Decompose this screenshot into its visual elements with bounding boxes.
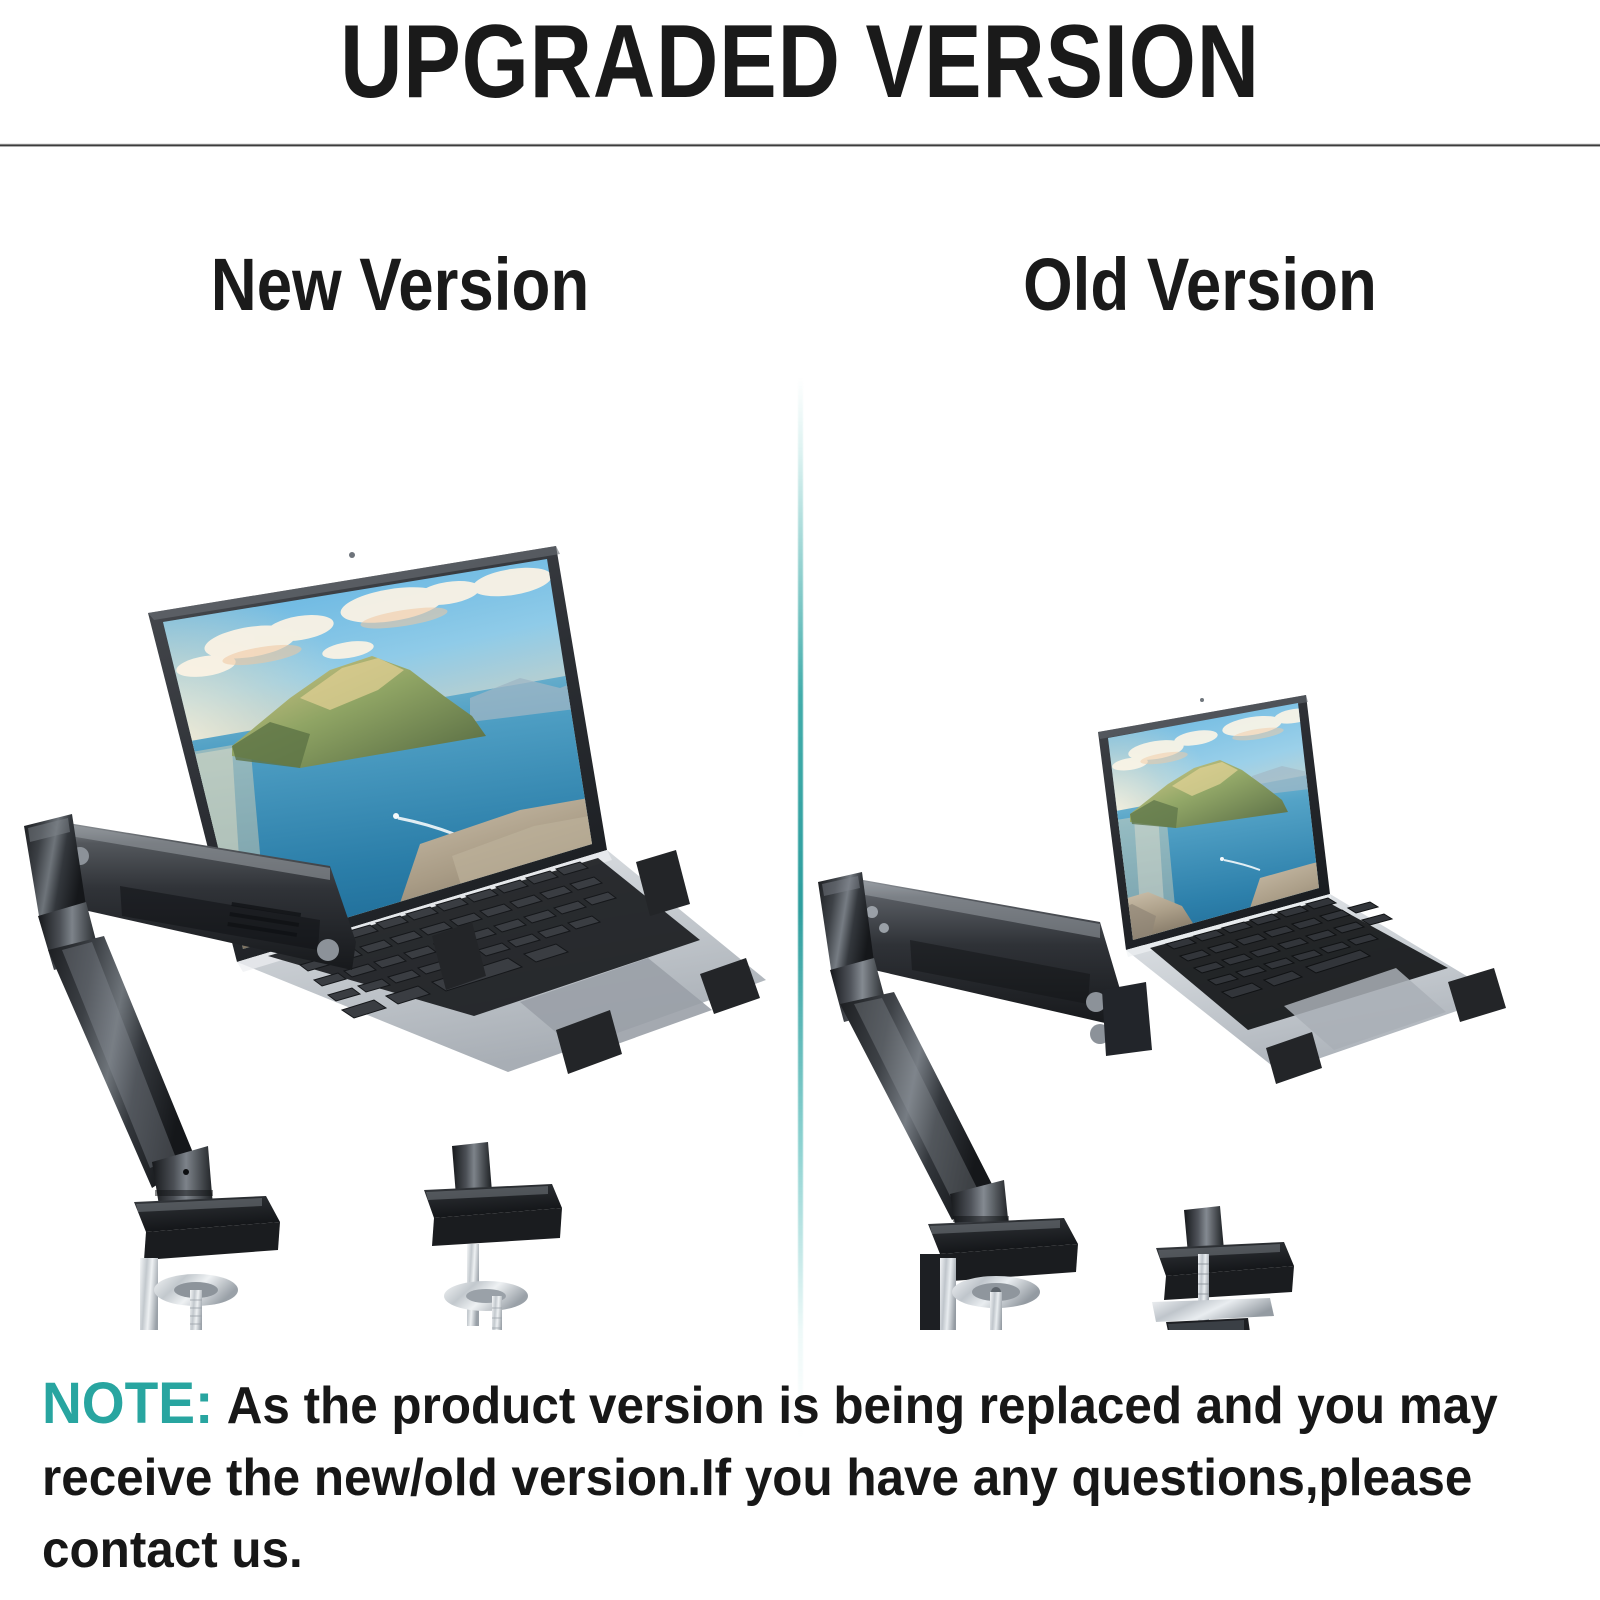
panel-new-version: New Version xyxy=(0,150,800,1330)
laptop-new xyxy=(140,540,766,1074)
product-image-old-version xyxy=(800,150,1600,1330)
note-label: NOTE: xyxy=(42,1371,213,1436)
note-line-1: NOTE:As the product version is being rep… xyxy=(42,1368,1486,1442)
header: UPGRADED VERSION xyxy=(0,0,1600,146)
note-text-1: As the product version is being replaced… xyxy=(227,1377,1498,1435)
note-line-3: contact us. xyxy=(42,1514,1486,1586)
grommet-mount-new xyxy=(424,1142,562,1330)
panel-divider xyxy=(798,378,803,1438)
comparison-area: New Version xyxy=(0,150,1600,1330)
note-block: NOTE:As the product version is being rep… xyxy=(42,1368,1562,1586)
page-title: UPGRADED VERSION xyxy=(136,6,1464,118)
product-image-new-version xyxy=(0,150,800,1330)
note-line-2: receive the new/old version.If you have … xyxy=(42,1442,1486,1514)
header-divider-rule xyxy=(0,143,1600,147)
comparison-infographic: UPGRADED VERSION New Version xyxy=(0,0,1600,1600)
panel-old-version: Old Version xyxy=(800,150,1600,1330)
c-clamp-mount-new xyxy=(140,1258,240,1330)
grommet-mount-old xyxy=(1152,1206,1294,1330)
laptop-old xyxy=(1095,690,1506,1084)
